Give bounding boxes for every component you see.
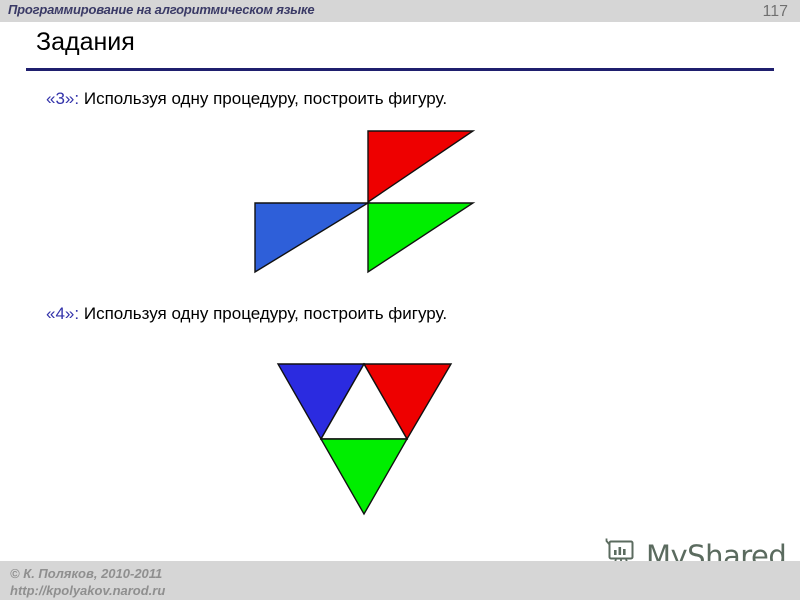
figure-2-svg <box>265 352 465 527</box>
footer-copyright: © К. Поляков, 2010-2011 <box>10 566 162 581</box>
task-2-text: Используя одну процедуру, построить фигу… <box>84 304 447 323</box>
task-line-2: «4»: Используя одну процедуру, построить… <box>46 303 447 325</box>
copyright-symbol: © <box>10 566 20 581</box>
page-number: 117 <box>762 3 788 21</box>
figure-2-green-triangle <box>321 439 407 514</box>
figure-pinwheel-triangles <box>245 120 485 290</box>
figure-1-blue-triangle <box>255 203 368 272</box>
footer-url[interactable]: http://kpolyakov.narod.ru <box>10 583 165 598</box>
task-1-colon: : <box>74 89 79 108</box>
page-number-value: 117 <box>762 3 788 20</box>
page-title: Задания <box>36 27 135 57</box>
figure-1-green-triangle <box>368 203 473 272</box>
task-1-marker: «3» <box>46 89 74 108</box>
figure-sierpinski-inverted-triangle <box>265 352 465 532</box>
task-2-colon: : <box>74 304 79 323</box>
task-line-1: «3»: Используя одну процедуру, построить… <box>46 88 447 110</box>
figure-1-red-triangle <box>368 131 473 202</box>
title-underline-divider <box>26 68 774 71</box>
course-title: Программирование на алгоритмическом язык… <box>8 2 314 17</box>
figure-1-svg <box>245 120 485 285</box>
copyright-text: К. Поляков, 2010-2011 <box>23 566 162 581</box>
task-2-marker: «4» <box>46 304 74 323</box>
task-1-text: Используя одну процедуру, построить фигу… <box>84 89 447 108</box>
